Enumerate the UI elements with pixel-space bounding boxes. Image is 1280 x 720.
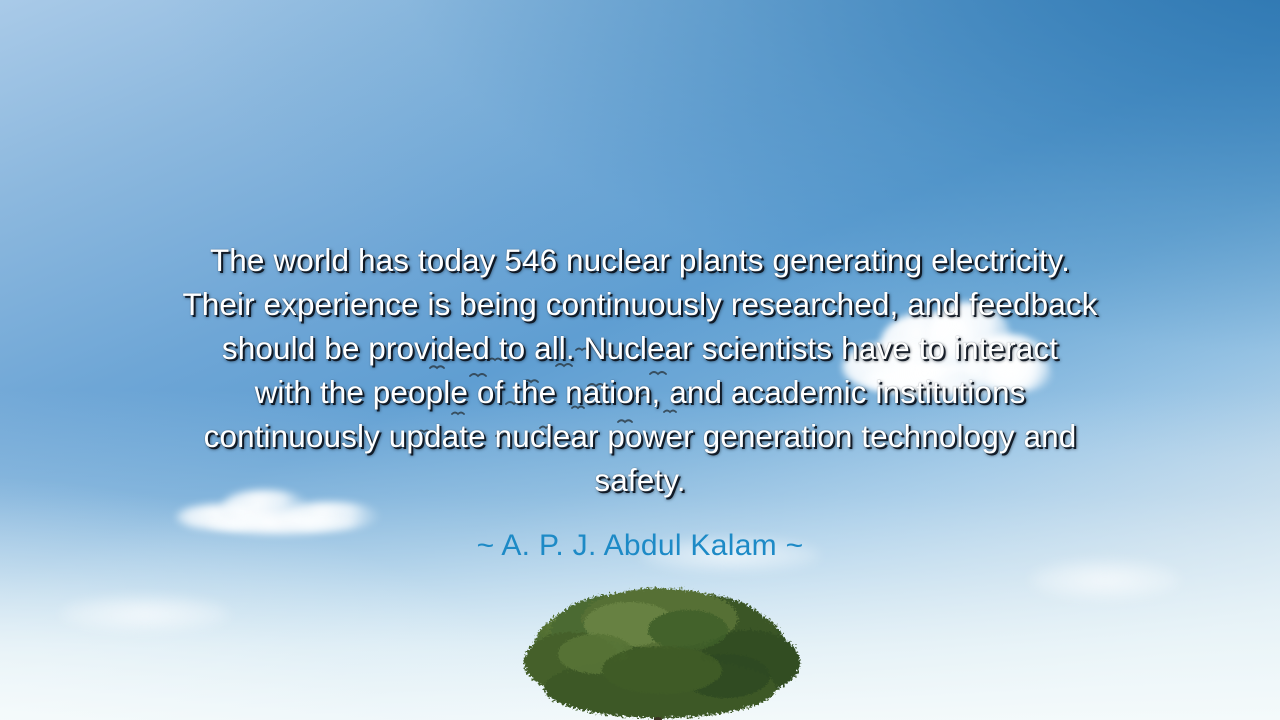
tree-silhouette: [512, 584, 808, 720]
quote-line-2: Their experience is being continuously r…: [110, 282, 1170, 326]
quote-text-block: The world has today 546 nuclear plants g…: [0, 238, 1280, 502]
quote-image-scene: The world has today 546 nuclear plants g…: [0, 0, 1280, 720]
quote-line-3: should be provided to all. Nuclear scien…: [110, 326, 1170, 370]
quote-line-5: continuously update nuclear power genera…: [110, 414, 1170, 458]
quote-line-4: with the people of the nation, and acade…: [110, 370, 1170, 414]
quote-line-6: safety.: [110, 458, 1170, 502]
quote-line-1: The world has today 546 nuclear plants g…: [110, 238, 1170, 282]
quote-attribution: ~ A. P. J. Abdul Kalam ~: [0, 526, 1280, 566]
